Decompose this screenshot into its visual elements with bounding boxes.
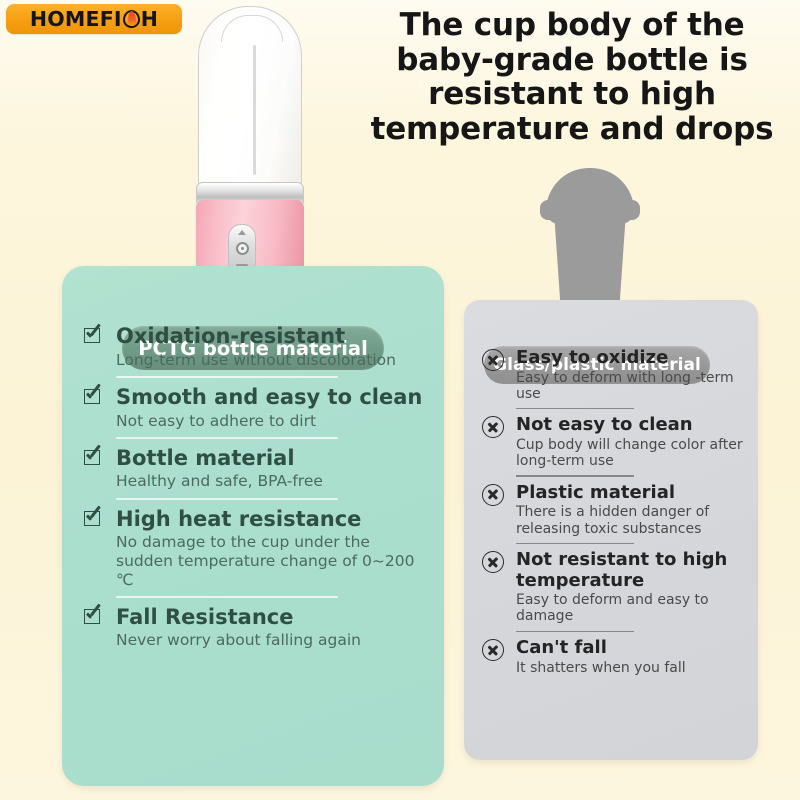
item-title: Not resistant to high temperature (516, 550, 744, 591)
item-subtitle: Easy to deform with long -term use (516, 370, 744, 402)
item-subtitle: There is a hidden danger of releasing to… (516, 504, 744, 536)
divider (116, 596, 338, 598)
brand-name-tail: H (141, 7, 158, 31)
circle-x-icon (482, 416, 504, 438)
circle-x-icon (482, 551, 504, 573)
list-item: Not resistant to high temperature Easy t… (480, 550, 744, 625)
blender-indicator-icon (238, 230, 246, 235)
checkbox-check-icon (84, 448, 103, 466)
item-title: Bottle material (116, 446, 424, 471)
brand-logo-text: HOMEFI H (30, 7, 158, 31)
silhouette-right-lip (626, 200, 640, 220)
item-subtitle: It shatters when you fall (516, 660, 744, 676)
blender-cup (198, 6, 302, 188)
list-item: High heat resistance No damage to the cu… (82, 507, 424, 590)
checkbox-check-icon (84, 607, 103, 625)
brand-logo: HOMEFI H (6, 4, 182, 34)
blender-power-button (236, 242, 249, 255)
divider (516, 408, 634, 409)
list-item: Not easy to clean Cup body will change c… (480, 415, 744, 469)
circle-x-icon (482, 349, 504, 371)
item-subtitle: Easy to deform and easy to damage (516, 592, 744, 624)
circle-x-icon (482, 484, 504, 506)
product-image-blender (186, 2, 314, 294)
checkbox-check-icon (84, 509, 103, 527)
item-title: High heat resistance (116, 507, 424, 532)
list-item: Can't fall It shatters when you fall (480, 638, 744, 676)
pctg-advantages-panel: PCTG bottle material Oxidation-resistant… (62, 266, 444, 786)
divider (116, 437, 338, 439)
item-title: Can't fall (516, 638, 744, 659)
item-subtitle: No damage to the cup under the sudden te… (116, 533, 424, 589)
circle-x-icon (482, 639, 504, 661)
item-title: Fall Resistance (116, 605, 424, 630)
silhouette-left-lip (540, 200, 554, 220)
checkbox-check-icon (84, 326, 103, 344)
list-item: Easy to oxidize Easy to deform with long… (480, 348, 744, 402)
brand-name-head: HOMEFI (30, 7, 122, 31)
glass-plastic-drawbacks-panel: Glass/plastic material Easy to oxidize E… (464, 300, 758, 760)
item-subtitle: Cup body will change color after long-te… (516, 437, 744, 469)
gray-cup-silhouette (536, 168, 644, 316)
item-title: Oxidation-resistant (116, 324, 424, 349)
page-title: The cup body of the baby-grade bottle is… (352, 8, 792, 147)
list-item: Bottle material Healthy and safe, BPA-fr… (82, 446, 424, 491)
item-title: Plastic material (516, 483, 744, 504)
item-subtitle: Long-term use without discoloration (116, 351, 424, 370)
flame-fish-icon (122, 8, 141, 30)
divider (516, 543, 634, 544)
checkbox-check-icon (84, 387, 103, 405)
divider (516, 631, 634, 632)
divider (116, 376, 338, 378)
list-item: Fall Resistance Never worry about fallin… (82, 605, 424, 650)
divider (116, 498, 338, 500)
item-title: Easy to oxidize (516, 348, 744, 369)
item-title: Smooth and easy to clean (116, 385, 424, 410)
divider (516, 475, 634, 476)
list-item: Smooth and easy to clean Not easy to adh… (82, 385, 424, 430)
item-subtitle: Never worry about falling again (116, 631, 424, 650)
item-subtitle: Not easy to adhere to dirt (116, 412, 424, 431)
item-title: Not easy to clean (516, 415, 744, 436)
list-item: Plastic material There is a hidden dange… (480, 483, 744, 537)
item-subtitle: Healthy and safe, BPA-free (116, 472, 424, 491)
list-item: Oxidation-resistant Long-term use withou… (82, 324, 424, 369)
